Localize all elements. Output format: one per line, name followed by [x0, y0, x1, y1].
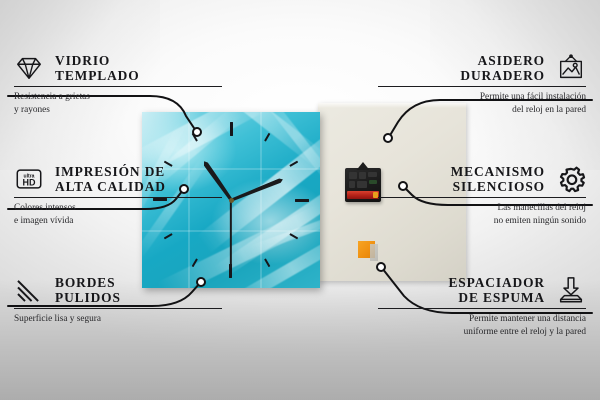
feature-title: VIDRIO TEMPLADO [53, 53, 140, 83]
feature-vidrio-templado[interactable]: VIDRIO TEMPLADO Resistencia a grietas y … [14, 53, 222, 116]
feature-divider [378, 197, 586, 198]
svg-text:HD: HD [23, 178, 36, 188]
feature-desc-line2: uniforme entre el reloj y la pared [378, 326, 586, 339]
feature-desc-line2: no emiten ningún sonido [378, 215, 586, 228]
feature-desc-line1: Resistencia a grietas [14, 91, 222, 104]
clock-center-cap [229, 198, 234, 203]
clock-second-hand [230, 200, 232, 268]
feature-title: BORDES PULIDOS [53, 275, 121, 305]
feature-divider [378, 86, 586, 87]
ultra-hd-icon: ultra HD [14, 164, 44, 194]
feature-asidero-duradero[interactable]: ASIDERO DURADERO Permite una fácil insta… [378, 53, 586, 116]
feature-mecanismo-silencioso[interactable]: MECANISMO SILENCIOSO Las manecillas del … [378, 164, 586, 227]
feature-title-line1: ASIDERO [478, 53, 545, 68]
feature-description: Colores intensos e imagen vívida [14, 202, 222, 227]
feature-desc-line1: Permite una fácil instalación [378, 91, 586, 104]
feature-header: VIDRIO TEMPLADO [14, 53, 222, 83]
feature-title-line1: IMPRESIÓN DE [55, 164, 165, 179]
feature-desc-line1: Colores intensos [14, 202, 222, 215]
feature-header: ultra HD IMPRESIÓN DE ALTA CALIDAD [14, 164, 222, 194]
glass-grid-line [260, 112, 262, 288]
feature-desc-line2: y rayones [14, 104, 222, 117]
feature-divider [14, 308, 222, 309]
feature-espaciador-de-espuma[interactable]: ESPACIADOR DE ESPUMA Permite mantener un… [378, 275, 586, 338]
feature-divider [378, 308, 586, 309]
clock-battery [347, 191, 379, 199]
feature-header: MECANISMO SILENCIOSO [378, 164, 586, 194]
feature-divider [14, 86, 222, 87]
feature-impresion-alta-calidad[interactable]: ultra HD IMPRESIÓN DE ALTA CALIDAD Color… [14, 164, 222, 227]
feature-header: ESPACIADOR DE ESPUMA [378, 275, 586, 305]
down-arrow-pad-icon [556, 275, 586, 305]
clock-mechanism [345, 168, 381, 202]
hanging-picture-icon [556, 53, 586, 83]
gear-icon [556, 164, 586, 194]
mechanism-detail-grid [348, 172, 378, 189]
feature-title-line1: ESPACIADOR [448, 275, 545, 290]
feature-desc-line2: e imagen vívida [14, 215, 222, 228]
feature-description: Las manecillas del reloj no emiten ningú… [378, 202, 586, 227]
diamond-icon [14, 53, 44, 83]
feature-title: IMPRESIÓN DE ALTA CALIDAD [53, 164, 166, 194]
feature-title-line1: MECANISMO [451, 164, 545, 179]
foam-spacer [358, 241, 375, 258]
feature-title: ESPACIADOR DE ESPUMA [448, 275, 547, 305]
feature-divider [14, 197, 222, 198]
beveled-edges-icon [14, 275, 44, 305]
feature-desc-line1: Permite mantener una distancia [378, 313, 586, 326]
feature-description: Superficie lisa y segura [14, 313, 222, 326]
feature-title-line1: VIDRIO [55, 53, 110, 68]
feature-title-line2: DE ESPUMA [448, 290, 545, 305]
feature-description: Permite una fácil instalación del reloj … [378, 91, 586, 116]
feature-title-line2: SILENCIOSO [451, 179, 545, 194]
feature-bordes-pulidos[interactable]: BORDES PULIDOS Superficie lisa y segura [14, 275, 222, 326]
feature-header: ASIDERO DURADERO [378, 53, 586, 83]
feature-description: Resistencia a grietas y rayones [14, 91, 222, 116]
feature-desc-line2: del reloj en la pared [378, 104, 586, 117]
feature-title-line2: PULIDOS [55, 290, 121, 305]
feature-title-line2: ALTA CALIDAD [55, 179, 166, 194]
feature-title-line2: TEMPLADO [55, 68, 140, 83]
feature-title: ASIDERO DURADERO [460, 53, 547, 83]
feature-header: BORDES PULIDOS [14, 275, 222, 305]
feature-desc-line1: Las manecillas del reloj [378, 202, 586, 215]
feature-desc-line1: Superficie lisa y segura [14, 313, 222, 326]
feature-title: MECANISMO SILENCIOSO [451, 164, 547, 194]
feature-title-line1: BORDES [55, 275, 115, 290]
feature-description: Permite mantener una distancia uniforme … [378, 313, 586, 338]
feature-title-line2: DURADERO [460, 68, 545, 83]
